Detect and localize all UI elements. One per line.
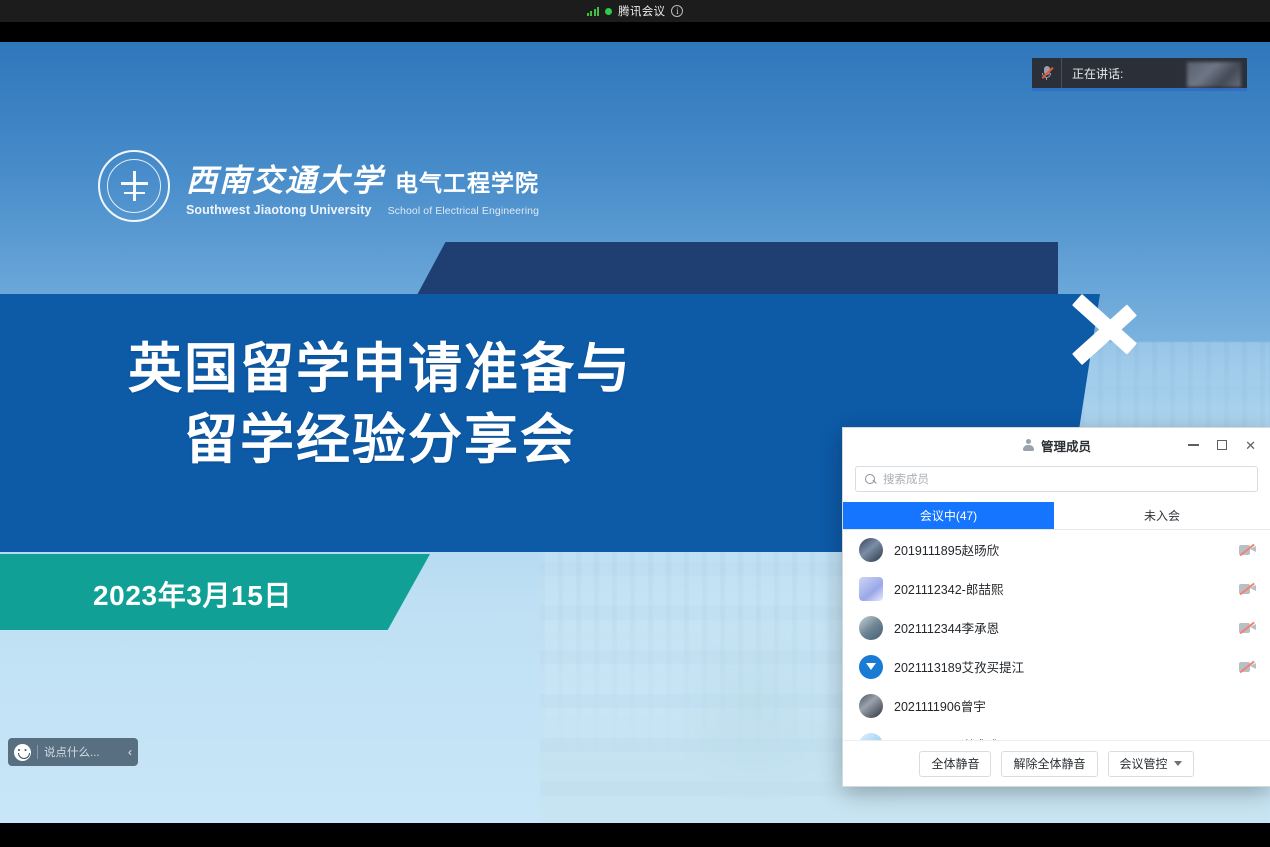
slide-title-line1: 英国留学申请准备与	[0, 334, 760, 405]
camera-off-icon[interactable]	[1239, 583, 1256, 595]
list-item[interactable]: 2019111895赵旸欣	[843, 530, 1270, 569]
avatar	[859, 733, 883, 741]
list-item[interactable]: 2021111925谢成武	[843, 725, 1270, 740]
mute-all-button[interactable]: 全体静音	[919, 751, 991, 777]
list-item[interactable]: 2021111906曾宇	[843, 686, 1270, 725]
member-name: 2021112342-郎喆熙	[894, 579, 1228, 598]
minimize-icon[interactable]	[1188, 444, 1199, 445]
search-row: 搜索成员	[843, 462, 1270, 502]
screen-root: 腾讯会议 i 西南交通大学 电气工程学院 Southwest Jiaotong …	[0, 0, 1270, 847]
chevron-right-decoration	[1077, 280, 1143, 366]
avatar	[859, 538, 883, 562]
meeting-status-bar: 腾讯会议 i	[0, 0, 1270, 22]
avatar	[859, 577, 883, 601]
logo-university-cn: 西南交通大学	[186, 155, 384, 200]
slide-title: 英国留学申请准备与 留学经验分享会	[0, 334, 760, 477]
person-icon	[1022, 439, 1035, 452]
member-name: 2021113189艾孜买提江	[894, 657, 1228, 676]
panel-tabs: 会议中(47) 未入会	[843, 502, 1270, 530]
search-icon	[865, 474, 876, 485]
member-list[interactable]: 2019111895赵旸欣 2021112342-郎喆熙 2021112344李…	[843, 530, 1270, 740]
close-icon[interactable]: ✕	[1245, 439, 1256, 452]
maximize-icon[interactable]	[1217, 440, 1227, 450]
list-item[interactable]: 2021112342-郎喆熙	[843, 569, 1270, 608]
member-name: 2019111895赵旸欣	[894, 540, 1228, 559]
green-status-dot	[605, 8, 612, 15]
emoji-icon[interactable]	[14, 744, 31, 761]
avatar	[859, 694, 883, 718]
meeting-control-button[interactable]: 会议管控	[1108, 751, 1194, 777]
speaking-label: 正在讲话:	[1072, 65, 1123, 82]
avatar	[859, 655, 883, 679]
window-controls: ✕	[1188, 428, 1262, 462]
search-placeholder: 搜索成员	[883, 471, 929, 487]
chevron-left-icon[interactable]: ‹	[126, 745, 132, 759]
camera-off-icon[interactable]	[1239, 622, 1256, 634]
info-icon[interactable]: i	[671, 5, 683, 17]
panel-footer: 全体静音 解除全体静音 会议管控	[843, 740, 1270, 786]
mic-muted-icon[interactable]	[1032, 58, 1062, 88]
member-name: 2021111906曾宇	[894, 696, 1256, 715]
logo-wordmark: 西南交通大学 电气工程学院 Southwest Jiaotong Univers…	[186, 155, 539, 217]
app-name-label: 腾讯会议	[618, 3, 665, 19]
chevron-down-icon	[1174, 761, 1182, 766]
logo-school-cn: 电气工程学院	[395, 164, 539, 198]
meeting-control-label: 会议管控	[1120, 755, 1168, 772]
camera-off-icon[interactable]	[1239, 661, 1256, 673]
active-speaker-bar: 正在讲话:	[1032, 58, 1247, 91]
letterbox-bottom	[0, 823, 1270, 847]
signal-bars-icon	[587, 6, 600, 16]
logo-university-en: Southwest Jiaotong University	[186, 203, 372, 217]
member-name: 2021111925谢成武	[894, 735, 1256, 740]
chat-input-bar[interactable]: 说点什么... ‹	[8, 738, 138, 766]
list-item[interactable]: 2021112344李承恩	[843, 608, 1270, 647]
avatar	[859, 616, 883, 640]
speaker-video-thumbnail	[1187, 62, 1241, 87]
university-seal-icon	[98, 150, 170, 222]
panel-title-bar: 管理成员 ✕	[843, 428, 1270, 462]
list-item[interactable]: 2021113189艾孜买提江	[843, 647, 1270, 686]
unmute-all-button[interactable]: 解除全体静音	[1001, 751, 1097, 777]
search-input[interactable]: 搜索成员	[855, 466, 1258, 492]
panel-title: 管理成员	[1041, 436, 1091, 455]
camera-off-icon[interactable]	[1239, 544, 1256, 556]
manage-members-panel: 管理成员 ✕ 搜索成员 会议中(47) 未入会 2019111895赵旸欣	[843, 428, 1270, 786]
logo-school-en: School of Electrical Engineering	[388, 205, 539, 217]
slide-title-line2: 留学经验分享会	[0, 405, 760, 476]
chat-input[interactable]: 说点什么...	[44, 744, 120, 760]
university-logo: 西南交通大学 电气工程学院 Southwest Jiaotong Univers…	[98, 150, 539, 222]
tab-in-meeting[interactable]: 会议中(47)	[843, 502, 1054, 529]
slide-date: 2023年3月15日	[93, 574, 292, 614]
tab-not-joined[interactable]: 未入会	[1054, 502, 1270, 529]
member-name: 2021112344李承恩	[894, 618, 1228, 637]
chat-divider	[37, 745, 38, 759]
